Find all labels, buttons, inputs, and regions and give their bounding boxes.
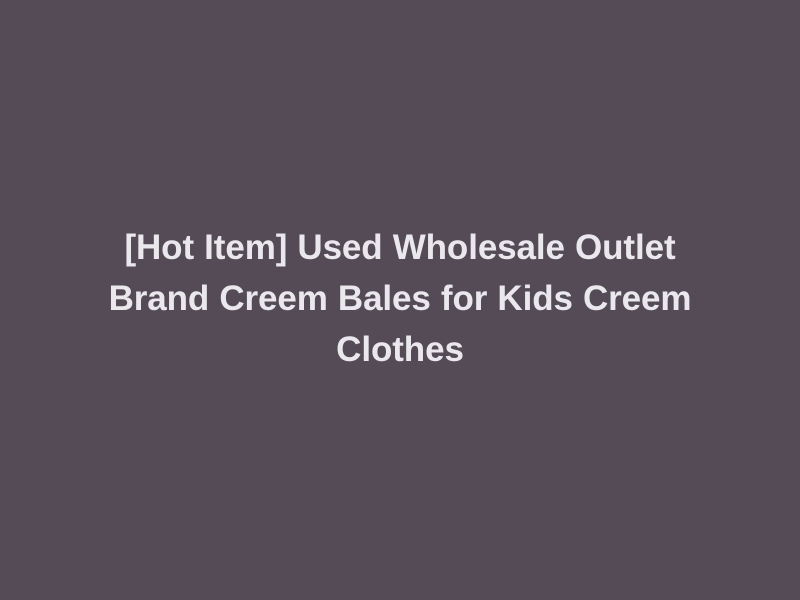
placeholder-canvas: [Hot Item] Used Wholesale Outlet Brand C… <box>0 0 800 600</box>
page-title: [Hot Item] Used Wholesale Outlet Brand C… <box>84 222 716 375</box>
